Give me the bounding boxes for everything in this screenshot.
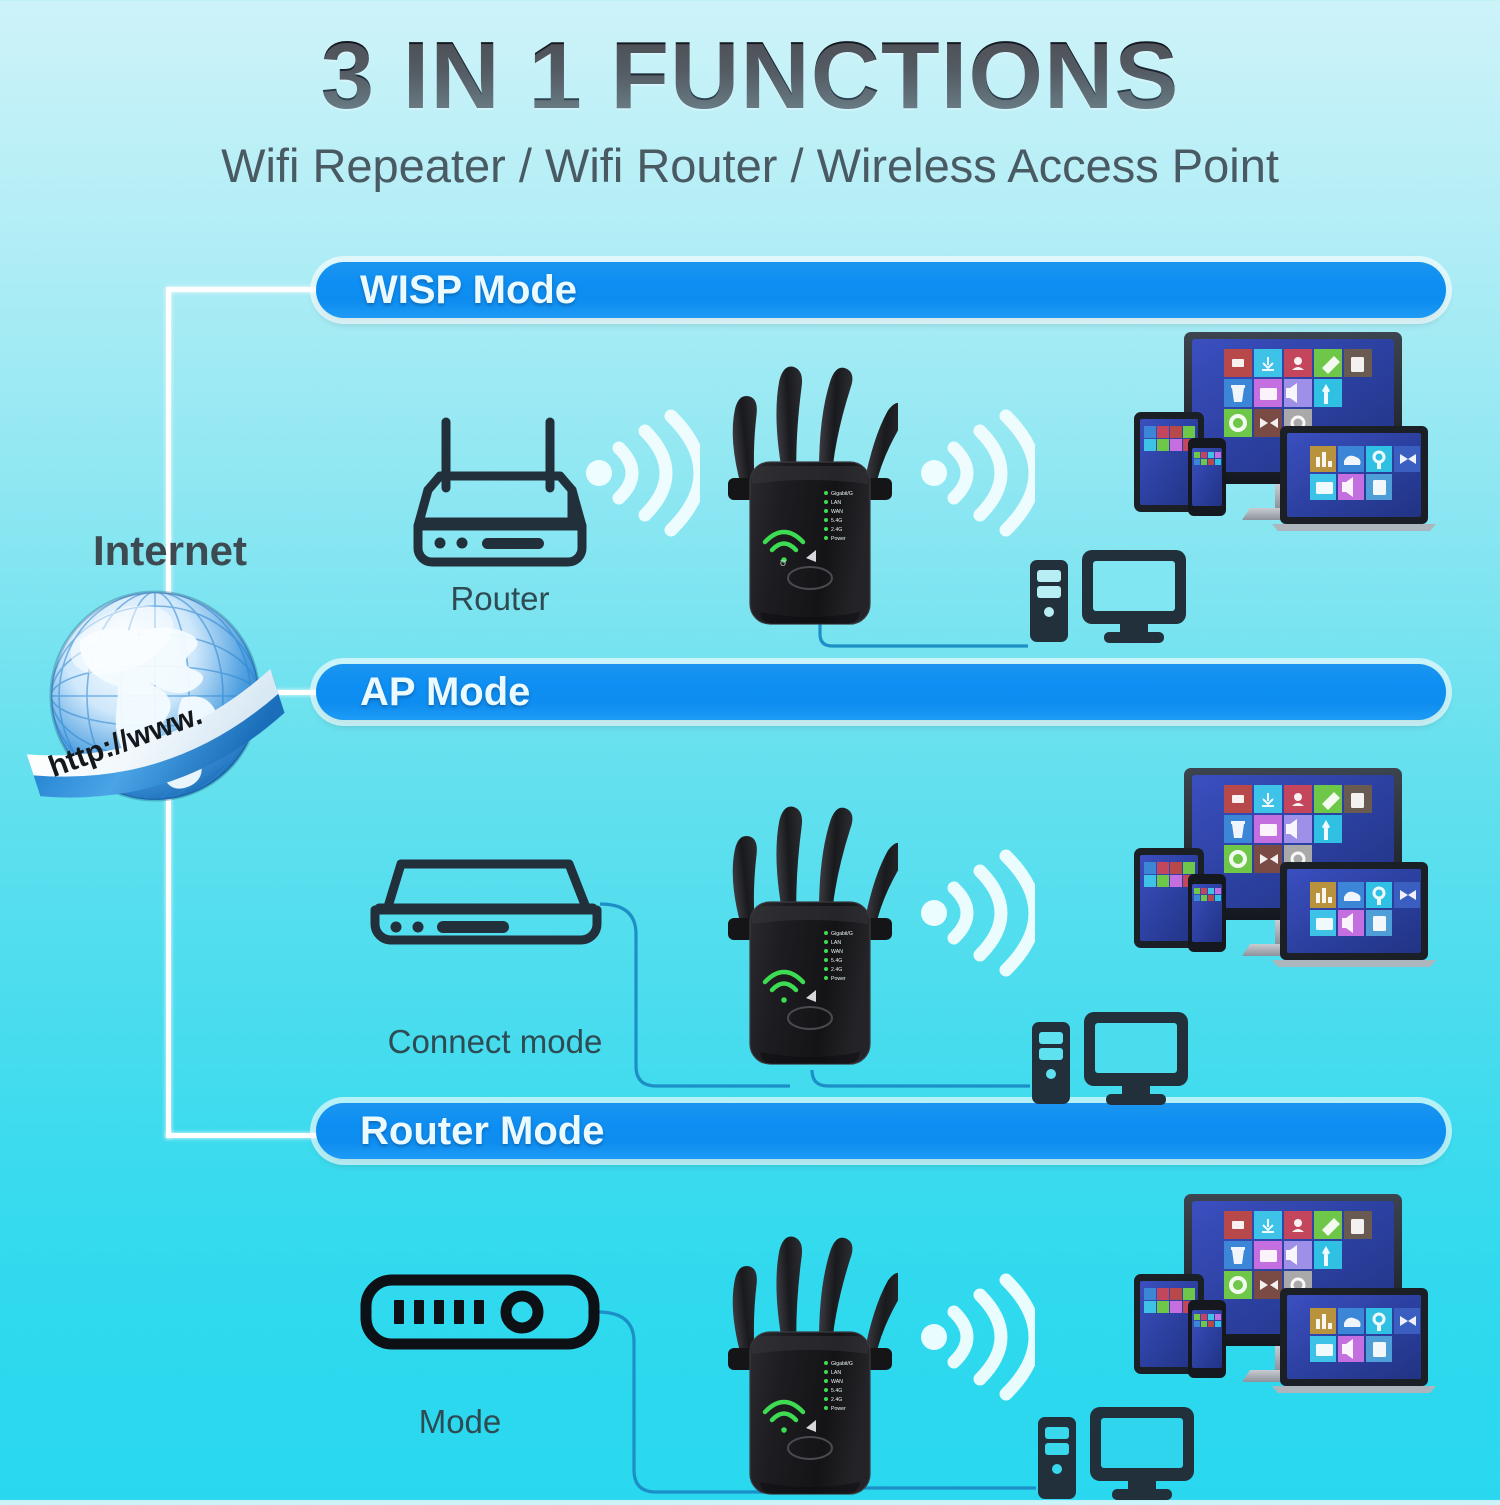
svg-text:LAN: LAN [831,940,841,946]
banner-label-router: Router Mode [360,1111,604,1151]
svg-text:5.4G: 5.4G [831,1388,842,1394]
source-label-ap: Connect mode [350,1025,640,1058]
banner-wisp-mode[interactable]: WISP Mode [316,262,1446,318]
wifi-signal-icon-wisp-right [920,408,1035,538]
wifi-repeater-device-wisp: Gigabit/G LAN WAN 5.4G 2.4G Power [722,336,898,626]
svg-text:5.4G: 5.4G [831,958,842,964]
device-cluster-router [1132,1192,1462,1397]
wifi-repeater-device-ap: Gigabit/GLAN WAN5.4G 2.4GPower [722,776,898,1066]
svg-text:WAN: WAN [831,1379,843,1385]
banner-ap-mode[interactable]: AP Mode [316,664,1446,720]
svg-text:2.4G: 2.4G [831,527,842,533]
svg-text:Gigabit/G: Gigabit/G [831,931,853,937]
modem-bar-icon [360,1272,600,1352]
svg-text:Power: Power [831,976,846,982]
wifi-signal-icon-wisp-left [585,408,700,538]
device-cluster-ap [1132,766,1462,971]
svg-text:LAN: LAN [831,500,841,506]
svg-text:Power: Power [831,1406,846,1412]
device-cluster-wisp [1132,330,1462,535]
source-label-wisp: Router [400,582,600,615]
infographic-stage: 3 IN 1 FUNCTIONS Wifi Repeater / Wifi Ro… [0,0,1500,1500]
banner-label-wisp: WISP Mode [360,270,577,310]
wifi-signal-icon-router [920,1272,1035,1402]
connector-line-router [166,1133,318,1138]
section-wisp-mode: Router [0,330,1500,650]
banner-router-mode[interactable]: Router Mode [316,1103,1446,1159]
svg-text:5.4G: 5.4G [831,518,842,524]
router-icon [400,410,600,575]
wifi-signal-icon-ap [920,848,1035,978]
svg-text:Gigabit/G: Gigabit/G [831,1361,853,1367]
desktop-pc-icon-router [1036,1405,1196,1500]
wifi-repeater-device-router: Gigabit/GLAN WAN5.4G 2.4GPower [722,1206,898,1496]
svg-text:WAN: WAN [831,949,843,955]
svg-text:2.4G: 2.4G [831,967,842,973]
svg-text:Gigabit/G: Gigabit/G [831,491,853,497]
source-label-router: Mode [360,1405,560,1438]
section-router-mode: Mode [0,1200,1500,1500]
modem-icon [365,848,605,958]
svg-text:Power: Power [831,536,846,542]
svg-text:Ʊ: Ʊ [780,559,786,568]
svg-text:WAN: WAN [831,509,843,515]
desktop-pc-icon-wisp [1028,548,1188,643]
page-subtitle: Wifi Repeater / Wifi Router / Wireless A… [0,142,1500,189]
svg-text:2.4G: 2.4G [831,1397,842,1403]
banner-label-ap: AP Mode [360,672,530,712]
connector-line-wisp [166,287,318,292]
page-title: 3 IN 1 FUNCTIONS [0,28,1500,124]
section-ap-mode: Connect mode [0,770,1500,1110]
svg-text:LAN: LAN [831,1370,841,1376]
desktop-pc-icon-ap [1030,1010,1190,1105]
